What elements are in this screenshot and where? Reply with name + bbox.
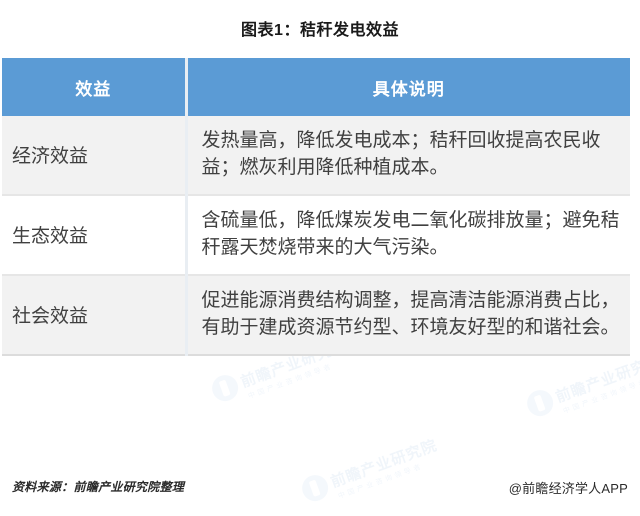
benefit-table: 效益 具体说明 经济效益 发热量高，降低发电成本；秸秆回收提高农民收益；燃灰利用… xyxy=(2,58,630,356)
source-note: 资料来源：前瞻产业研究院整理 xyxy=(12,478,184,495)
table-header-row: 效益 具体说明 xyxy=(2,58,630,116)
table-body: 经济效益 发热量高，降低发电成本；秸秆回收提高农民收益；燃灰利用降低种植成本。 … xyxy=(2,116,630,355)
benefit-table-container: 效益 具体说明 经济效益 发热量高，降低发电成本；秸秆回收提高农民收益；燃灰利用… xyxy=(2,58,630,356)
table-row: 社会效益 促进能源消费结构调整，提高清洁能源消费占比，有助于建成资源节约型、环境… xyxy=(2,275,630,355)
cell-benefit-description: 含硫量低，降低煤炭发电二氧化碳排放量；避免秸秆露天焚烧带来的大气污染。 xyxy=(186,195,630,275)
column-header-description: 具体说明 xyxy=(186,58,630,116)
page-title: 图表1：秸秆发电效益 xyxy=(0,16,640,40)
watermark-main-text: 前瞻产业研究院 xyxy=(554,352,640,406)
table-row: 经济效益 发热量高，降低发电成本；秸秆回收提高农民收益；燃灰利用降低种植成本。 xyxy=(2,116,630,195)
cell-benefit-description: 促进能源消费结构调整，提高清洁能源消费占比，有助于建成资源节约型、环境友好型的和… xyxy=(186,275,630,355)
table-row: 生态效益 含硫量低，降低煤炭发电二氧化碳排放量；避免秸秆露天焚烧带来的大气污染。 xyxy=(2,195,630,275)
chart-figure: 图表1：秸秆发电效益 效益 具体说明 经济效益 发热量高，降低发电成本；秸秆回收… xyxy=(0,0,640,516)
cell-benefit-label: 经济效益 xyxy=(2,116,186,195)
watermark-sub-text: 中国产业咨询领导者 xyxy=(247,354,354,401)
brand-logo-icon xyxy=(208,371,241,404)
table-header: 效益 具体说明 xyxy=(2,58,630,116)
column-header-benefit: 效益 xyxy=(2,58,186,116)
cell-benefit-label: 生态效益 xyxy=(2,195,186,275)
cell-benefit-description: 发热量高，降低发电成本；秸秆回收提高农民收益；燃灰利用降低种植成本。 xyxy=(186,116,630,195)
cell-benefit-label: 社会效益 xyxy=(2,275,186,355)
app-attribution: @前瞻经济学人APP xyxy=(509,478,628,497)
figure-footer: 资料来源：前瞻产业研究院整理 @前瞻经济学人APP xyxy=(0,478,640,502)
brand-logo-icon xyxy=(523,386,556,419)
watermark-sub-text: 中国产业咨询领导者 xyxy=(562,369,640,416)
watermark-logo: 前瞻产业研究院 中国产业咨询领导者 xyxy=(523,347,640,428)
